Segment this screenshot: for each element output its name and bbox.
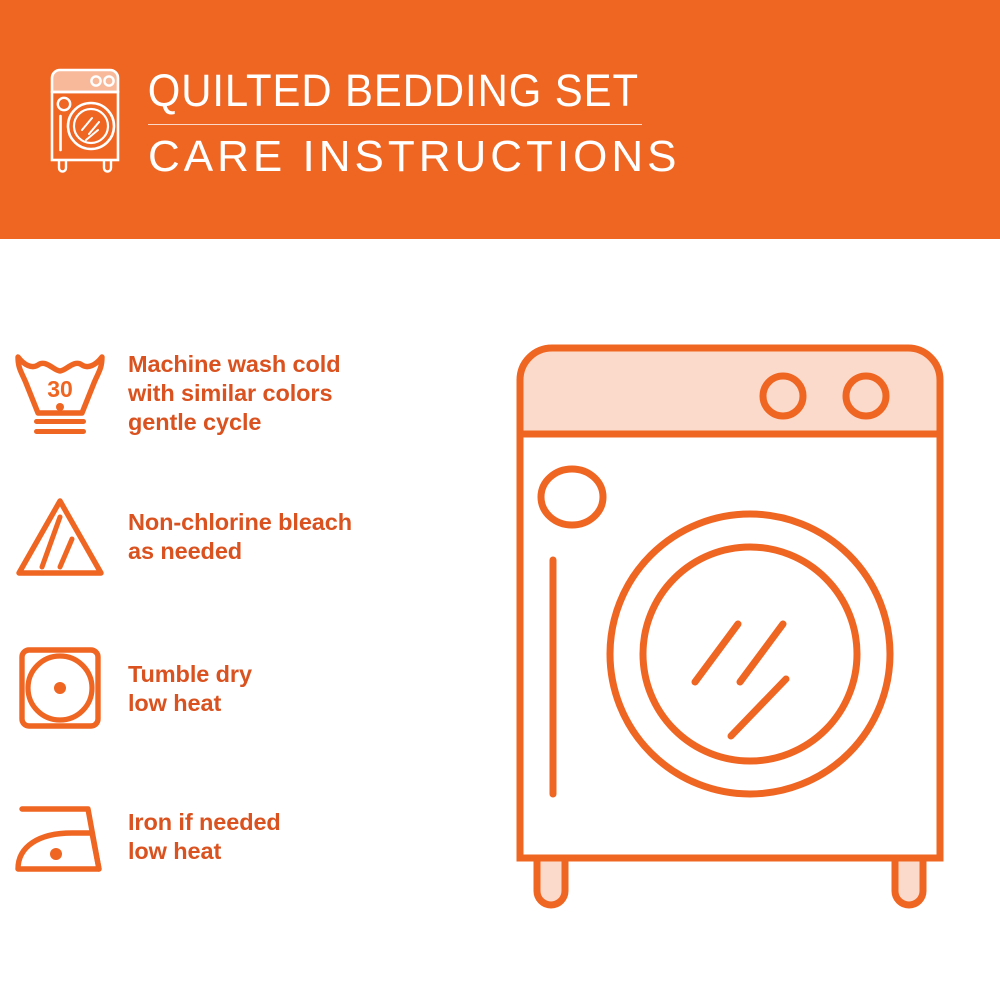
knob-left	[763, 376, 803, 416]
page-subtitle: CARE INSTRUCTIONS	[144, 131, 680, 183]
tumble-dry-low-heat-icon	[0, 639, 120, 739]
header-content: QUILTED BEDDING SET CARE INSTRUCTIONS	[46, 64, 680, 183]
care-item-bleach: Non-chlorine bleach as needed	[0, 487, 480, 587]
care-instructions-infographic: QUILTED BEDDING SET CARE INSTRUCTIONS 30	[0, 0, 1000, 1000]
page-title: QUILTED BEDDING SET	[144, 66, 643, 120]
wash-tub-30-gentle-icon: 30	[0, 343, 120, 443]
header-title-group: QUILTED BEDDING SET CARE INSTRUCTIONS	[144, 64, 680, 183]
iron-low-heat-icon	[0, 787, 120, 887]
care-item-tumble-dry: Tumble dry low heat	[0, 639, 480, 739]
title-divider	[148, 124, 642, 125]
care-item-label: Tumble dry low heat	[120, 660, 252, 718]
care-item-label: Machine wash cold with similar colors ge…	[120, 350, 340, 437]
knob-right	[846, 376, 886, 416]
wash-temperature-label: 30	[47, 376, 73, 402]
care-item-iron: Iron if needed low heat	[0, 787, 480, 887]
washing-machine-icon	[46, 64, 124, 174]
care-item-machine-wash: 30 Machine wash cold with similar colors…	[0, 343, 480, 443]
leg-right	[895, 854, 923, 905]
leg-left	[537, 854, 565, 905]
care-instruction-list: 30 Machine wash cold with similar colors…	[0, 239, 480, 1000]
care-item-label: Non-chlorine bleach as needed	[120, 508, 352, 566]
care-item-label: Iron if needed low heat	[120, 808, 281, 866]
header-banner: QUILTED BEDDING SET CARE INSTRUCTIONS	[0, 0, 1000, 239]
front-load-washing-machine-illustration	[495, 334, 965, 934]
non-chlorine-bleach-triangle-icon	[0, 487, 120, 587]
